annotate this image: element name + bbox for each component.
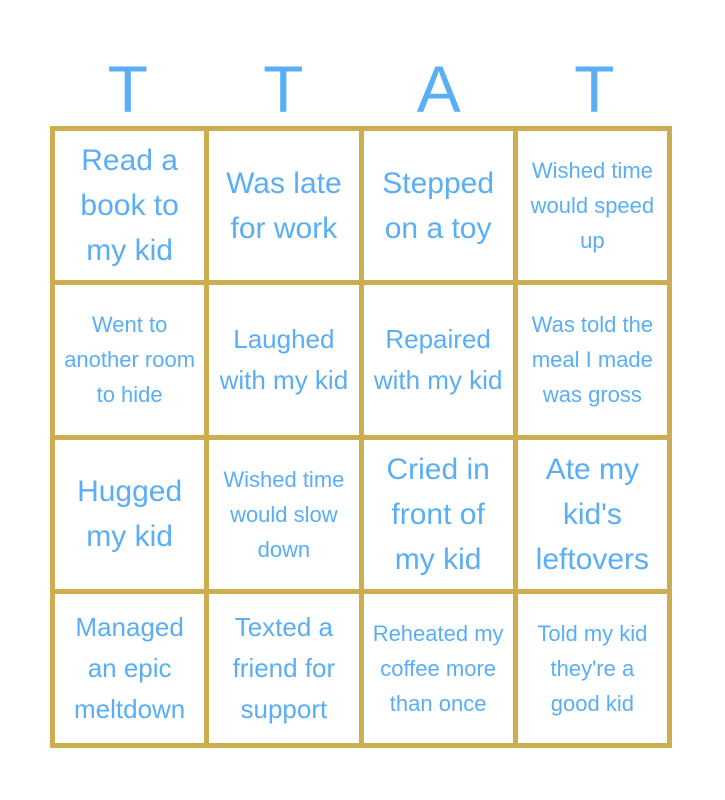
bingo-cell-label: Hugged my kid: [61, 469, 198, 559]
bingo-cell-label: Read a book to my kid: [61, 138, 198, 273]
bingo-cell-label: Stepped on a toy: [370, 161, 507, 251]
bingo-cell-r3c1[interactable]: Hugged my kid: [55, 440, 209, 594]
bingo-cell-label: Reheated my coffee more than once: [370, 616, 507, 721]
bingo-cell-r4c2[interactable]: Texted a friend for support: [209, 594, 363, 748]
bingo-cell-label: Ate my kid's leftovers: [524, 447, 661, 582]
bingo-cell-r2c3[interactable]: Repaired with my kid: [364, 285, 518, 439]
bingo-cell-label: Told my kid they're a good kid: [524, 616, 661, 721]
bingo-cell-r1c2[interactable]: Was late for work: [209, 131, 363, 285]
bingo-cell-r3c3[interactable]: Cried in front of my kid: [364, 440, 518, 594]
bingo-cell-r2c4[interactable]: Was told the meal I made was gross: [518, 285, 672, 439]
bingo-header-row: TTAT: [50, 46, 672, 122]
bingo-header-letter-1: T: [50, 46, 206, 122]
bingo-cell-label: Cried in front of my kid: [370, 447, 507, 582]
bingo-cell-r1c4[interactable]: Wished time would speed up: [518, 131, 672, 285]
bingo-cell-label: Wished time would speed up: [524, 153, 661, 258]
bingo-grid: Read a book to my kidWas late for workSt…: [50, 126, 672, 748]
bingo-cell-label: Was told the meal I made was gross: [524, 307, 661, 412]
bingo-cell-r4c4[interactable]: Told my kid they're a good kid: [518, 594, 672, 748]
bingo-cell-r4c3[interactable]: Reheated my coffee more than once: [364, 594, 518, 748]
bingo-cell-label: Repaired with my kid: [370, 319, 507, 401]
bingo-cell-label: Managed an epic meltdown: [61, 607, 198, 730]
bingo-cell-r4c1[interactable]: Managed an epic meltdown: [55, 594, 209, 748]
bingo-cell-r3c2[interactable]: Wished time would slow down: [209, 440, 363, 594]
bingo-cell-label: Laughed with my kid: [215, 319, 352, 401]
bingo-cell-r2c2[interactable]: Laughed with my kid: [209, 285, 363, 439]
bingo-cell-r3c4[interactable]: Ate my kid's leftovers: [518, 440, 672, 594]
bingo-header-letter-2: T: [206, 46, 362, 122]
bingo-cell-r1c1[interactable]: Read a book to my kid: [55, 131, 209, 285]
bingo-cell-label: Texted a friend for support: [215, 607, 352, 730]
bingo-cell-r1c3[interactable]: Stepped on a toy: [364, 131, 518, 285]
bingo-header-letter-3: A: [361, 46, 517, 122]
bingo-cell-label: Was late for work: [215, 161, 352, 251]
bingo-header-letter-4: T: [517, 46, 673, 122]
bingo-cell-label: Went to another room to hide: [61, 307, 198, 412]
bingo-cell-label: Wished time would slow down: [215, 462, 352, 567]
bingo-cell-r2c1[interactable]: Went to another room to hide: [55, 285, 209, 439]
bingo-card: TTAT Read a book to my kidWas late for w…: [0, 0, 725, 800]
